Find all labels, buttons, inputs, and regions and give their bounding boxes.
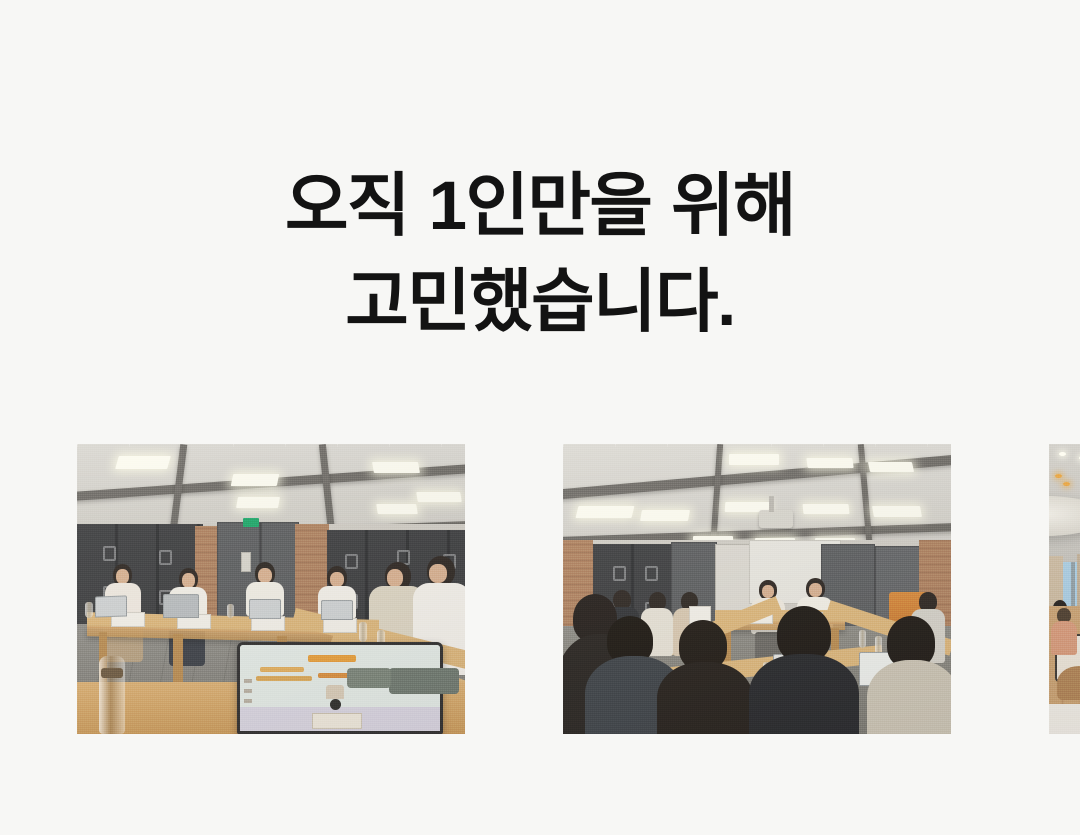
headline-line-1: 오직 1인만을 위해 (0, 158, 1080, 254)
ceiling-light (416, 492, 462, 502)
cup (85, 602, 93, 618)
bottle (359, 622, 367, 642)
gallery-photo-2[interactable]: 프로젝터 스크린이 있는 세미나실에서 뒤에서 바라본 청중과 패널 (563, 444, 951, 734)
landing-section: 오직 1인만을 위해 고민했습니다. (0, 0, 1080, 835)
ceiling-light (729, 454, 779, 465)
ceiling-light (236, 497, 280, 508)
floor-strip (1049, 704, 1080, 734)
ceiling-light (231, 474, 280, 486)
cup (227, 604, 234, 618)
audience-back (657, 620, 753, 734)
ceiling-light (115, 456, 171, 469)
ceiling-light (372, 462, 420, 473)
ceiling-light (576, 506, 635, 518)
photo-3-scene (1049, 444, 1080, 734)
ceiling-light (806, 458, 853, 468)
ceiling-disc (1049, 496, 1080, 536)
laptop (95, 595, 127, 617)
gallery-photo-3[interactable]: 곡선 천장과 통창이 있는 라운지 홀에 앉아 있는 많은 사람들 (1049, 444, 1080, 734)
lounge-person (1051, 608, 1077, 656)
bottle-cap (101, 668, 123, 678)
photo-2-scene (563, 444, 951, 734)
ceiling-light (640, 510, 690, 521)
name-placard (323, 618, 357, 633)
audience-back (863, 616, 951, 734)
photo-1-scene (77, 444, 465, 734)
headline-line-2: 고민했습니다. (0, 254, 1080, 350)
gallery-photo-1[interactable]: 회의실에서 테이블에 앉아 명패를 두고 발표를 듣는 참가자들 (77, 444, 465, 734)
laptop (163, 594, 199, 618)
ceiling-light (802, 504, 849, 514)
laptop (249, 599, 281, 619)
ceiling-light (872, 506, 922, 517)
projector-mount (769, 496, 774, 512)
page-title: 오직 1인만을 위해 고민했습니다. (0, 158, 1080, 350)
exit-sign-icon (243, 518, 259, 527)
bag (389, 668, 459, 694)
ceiling-light (376, 504, 418, 514)
photo-gallery: 회의실에서 테이블에 앉아 명패를 두고 발표를 듣는 참가자들 (37, 428, 1080, 718)
laptop (321, 600, 353, 620)
projector (759, 510, 793, 528)
bag (347, 668, 391, 688)
audience-back (749, 606, 859, 734)
ceiling-light (868, 462, 914, 472)
